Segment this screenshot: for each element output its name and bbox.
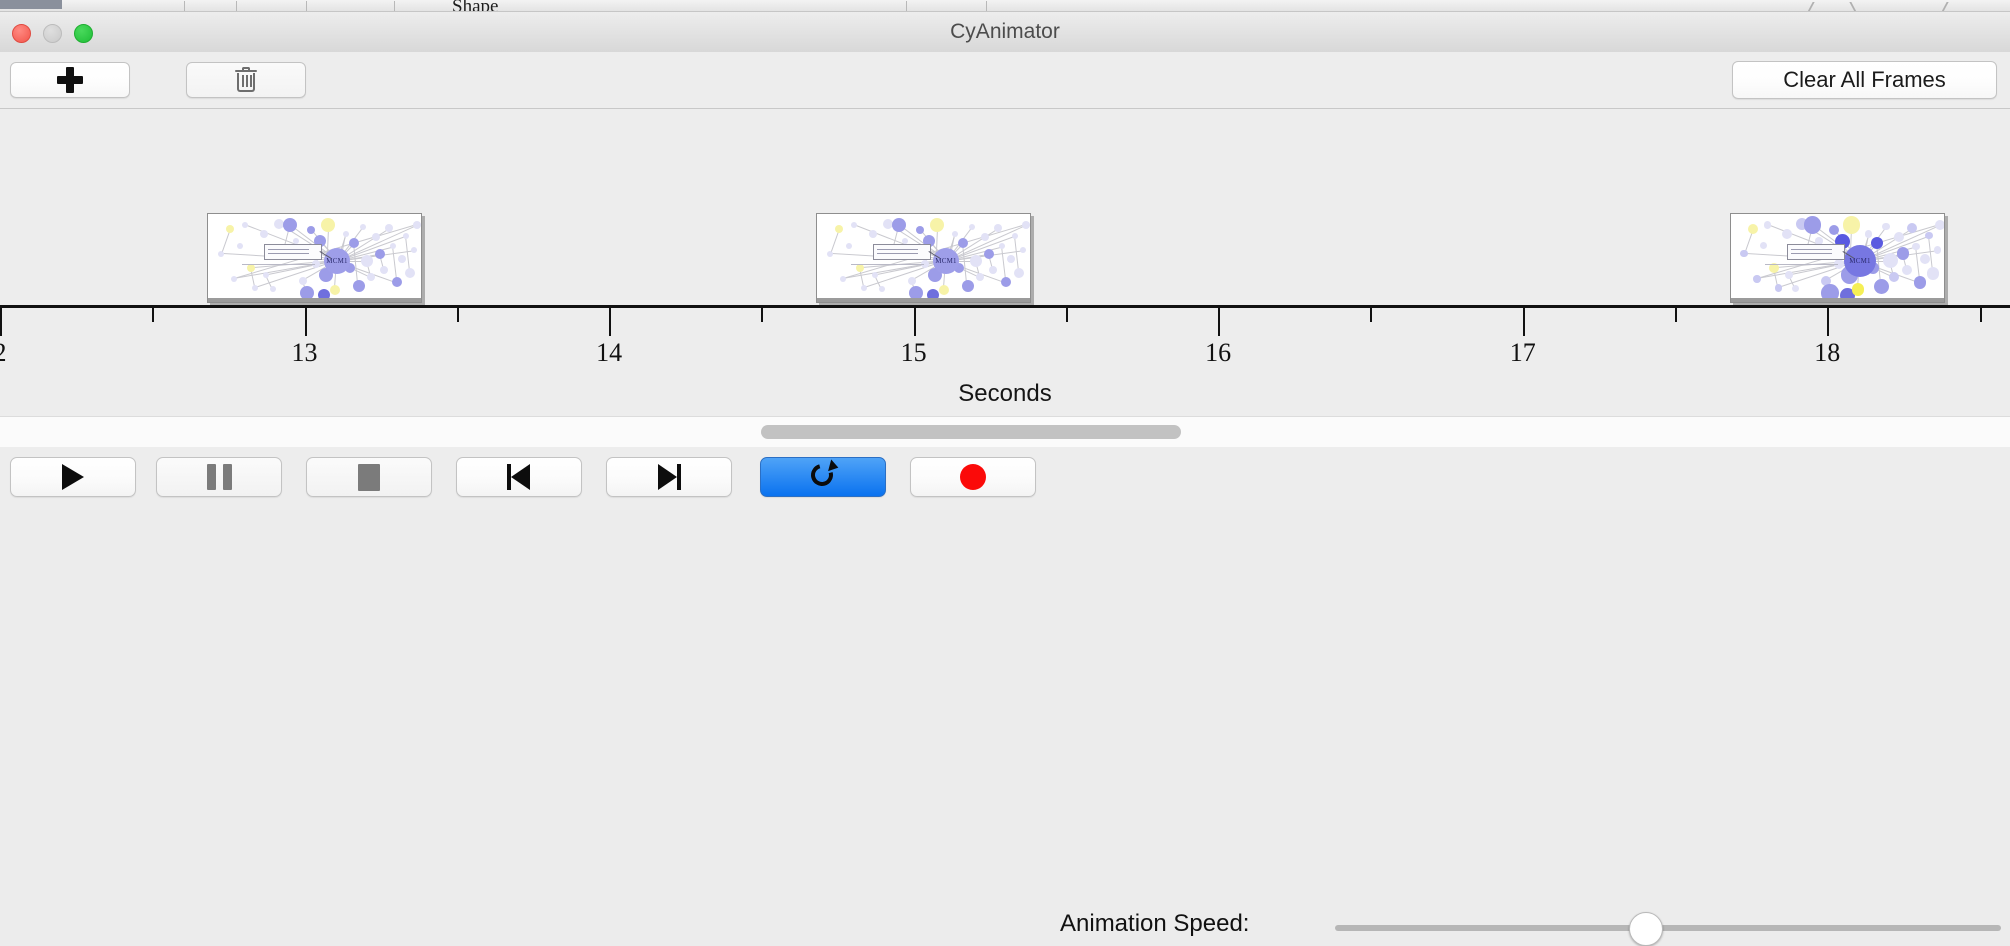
network-node [1748, 224, 1758, 234]
network-node [1804, 216, 1822, 234]
network-node [1764, 221, 1772, 229]
network-node [330, 285, 340, 295]
record-button[interactable] [910, 457, 1036, 497]
network-node [367, 273, 375, 281]
axis-tick-minor [152, 308, 154, 322]
network-node [231, 276, 237, 282]
network-node [1889, 272, 1899, 282]
network-node [970, 255, 982, 267]
skip-back-icon [506, 464, 532, 490]
network-node [413, 221, 421, 229]
network-node [1902, 265, 1912, 275]
axis-tick-minor [1370, 308, 1372, 322]
network-node [375, 249, 385, 259]
timeline-panel[interactable]: MCM1MCM1MCM1 2131415161718 Seconds [0, 109, 2010, 416]
network-node [263, 272, 269, 278]
network-node [879, 286, 885, 292]
network-node [989, 266, 997, 274]
animation-speed-label: Animation Speed: [1060, 910, 1249, 938]
stop-button[interactable] [306, 457, 432, 497]
network-node [1912, 243, 1920, 251]
network-node [840, 276, 846, 282]
network-node [1852, 283, 1865, 296]
network-node [892, 218, 906, 232]
axis-tick-major [609, 308, 611, 336]
network-node [1785, 271, 1793, 279]
axis-tick-minor [761, 308, 763, 322]
network-caption [851, 264, 924, 265]
network-node [999, 243, 1005, 249]
network-node [1897, 247, 1910, 260]
network-node [1865, 230, 1873, 238]
axis-tick-major [1523, 308, 1525, 336]
network-node [994, 224, 1002, 232]
network-node [1920, 254, 1930, 264]
network-node [1007, 255, 1015, 263]
pause-button[interactable] [156, 457, 282, 497]
network-node [411, 247, 417, 253]
axis-tick-label: 2 [0, 338, 7, 368]
network-node [827, 251, 833, 257]
network-node [1925, 232, 1933, 240]
network-node [846, 243, 852, 249]
network-node [1020, 247, 1026, 253]
network-node [1907, 223, 1917, 233]
network-node [283, 218, 297, 232]
title-bar: CyAnimator [0, 12, 2010, 53]
delete-frame-button[interactable] [186, 62, 306, 98]
network-node [835, 225, 843, 233]
axis-tick-minor [457, 308, 459, 322]
network-node [930, 218, 944, 232]
loop-icon [808, 462, 838, 492]
record-icon [960, 464, 986, 490]
axis-tick-major [305, 308, 307, 336]
add-frame-button[interactable] [10, 62, 130, 98]
network-node [270, 286, 276, 292]
network-node [1760, 242, 1768, 250]
stop-icon [358, 464, 380, 491]
skip-forward-button[interactable] [606, 457, 732, 497]
network-node [1014, 268, 1024, 278]
network-node [1022, 221, 1030, 229]
network-thumbnail: MCM1 [1731, 214, 1944, 302]
trash-icon [235, 67, 257, 93]
network-node [1753, 275, 1761, 283]
axis-tick-major [1218, 308, 1220, 336]
axis-tick-minor [1675, 308, 1677, 322]
network-node [976, 273, 984, 281]
network-node [1843, 216, 1861, 234]
network-node [380, 266, 388, 274]
network-node [1914, 276, 1927, 289]
axis-caption: Seconds [0, 380, 2010, 408]
network-caption [242, 264, 315, 265]
network-node [1882, 223, 1890, 231]
timeline-frame-thumbnail[interactable]: MCM1 [207, 213, 422, 303]
network-node [321, 218, 335, 232]
plus-icon [57, 67, 83, 93]
axis-tick-minor [1980, 308, 1982, 322]
network-node [1740, 250, 1748, 258]
network-node [1775, 284, 1783, 292]
network-annotation-box [1787, 244, 1845, 260]
network-node [226, 225, 234, 233]
axis-tick-label: 13 [292, 338, 318, 368]
network-node [398, 255, 406, 263]
network-node [361, 255, 373, 267]
network-node [353, 280, 365, 292]
network-node [218, 251, 224, 257]
axis-tick-minor [1066, 308, 1068, 322]
network-node [939, 285, 949, 295]
network-node [405, 268, 415, 278]
network-node [343, 231, 349, 237]
network-node [851, 222, 857, 228]
network-node [260, 230, 268, 238]
scrollbar-thumb[interactable] [761, 425, 1181, 439]
network-node [1001, 277, 1011, 287]
network-node [984, 249, 994, 259]
play-button[interactable] [10, 457, 136, 497]
skip-back-button[interactable] [456, 457, 582, 497]
network-node [390, 243, 396, 249]
network-node [1792, 285, 1800, 293]
network-annotation-box [264, 244, 322, 260]
network-node [372, 233, 380, 241]
network-node [1934, 246, 1942, 254]
timeline-frame-thumbnail[interactable]: MCM1 [816, 213, 1031, 303]
cyanimator-window: Shape CyAnimator Clear All Frames MCM1MC… [0, 0, 2010, 510]
network-node [908, 277, 916, 285]
network-node [958, 238, 968, 248]
network-annotation-box [873, 244, 931, 260]
network-node [242, 222, 248, 228]
network-node [872, 272, 878, 278]
frame-base [208, 298, 421, 302]
network-node [861, 285, 867, 291]
frame-base [1731, 298, 1944, 302]
axis-tick-label: 17 [1510, 338, 1536, 368]
network-thumbnail: MCM1 [817, 214, 1030, 302]
network-node [349, 238, 359, 248]
clear-all-frames-button[interactable]: Clear All Frames [1732, 61, 1997, 99]
timeline-axis [0, 305, 2010, 308]
network-node [1935, 220, 1945, 230]
toolbar: Clear All Frames [0, 52, 2010, 109]
network-node [1927, 267, 1940, 280]
network-thumbnail: MCM1 [208, 214, 421, 302]
network-node [385, 224, 393, 232]
frame-base [817, 298, 1030, 302]
network-node [969, 224, 975, 230]
animation-speed-slider[interactable] [1335, 925, 2001, 931]
network-node [1782, 229, 1792, 239]
play-icon [62, 464, 84, 490]
pause-icon [207, 464, 232, 490]
axis-tick-label: 16 [1205, 338, 1231, 368]
network-node [952, 231, 958, 237]
loop-button[interactable] [760, 457, 886, 497]
axis-tick-major [914, 308, 916, 336]
axis-tick-label: 15 [901, 338, 927, 368]
network-caption [1765, 264, 1838, 265]
network-node [981, 233, 989, 241]
network-node [360, 224, 366, 230]
timeline-frame-thumbnail[interactable]: MCM1 [1730, 213, 1945, 303]
axis-tick-major [1827, 308, 1829, 336]
network-node [1874, 279, 1889, 294]
timeline-scrollbar[interactable] [0, 416, 2010, 448]
network-node [392, 277, 402, 287]
axis-tick-major [0, 308, 2, 336]
animation-speed-slider-thumb[interactable] [1629, 912, 1663, 946]
transport-bar: Animation Speed: [0, 447, 2010, 510]
network-node [237, 243, 243, 249]
network-node [252, 285, 258, 291]
network-node [962, 280, 974, 292]
network-node [869, 230, 877, 238]
window-title: CyAnimator [0, 12, 2010, 52]
network-node [403, 233, 409, 239]
network-node [1883, 253, 1898, 268]
axis-tick-label: 14 [596, 338, 622, 368]
skip-forward-icon [656, 464, 682, 490]
background-selected-tab [0, 0, 62, 9]
network-node [299, 277, 307, 285]
axis-tick-label: 18 [1814, 338, 1840, 368]
network-node [1012, 233, 1018, 239]
